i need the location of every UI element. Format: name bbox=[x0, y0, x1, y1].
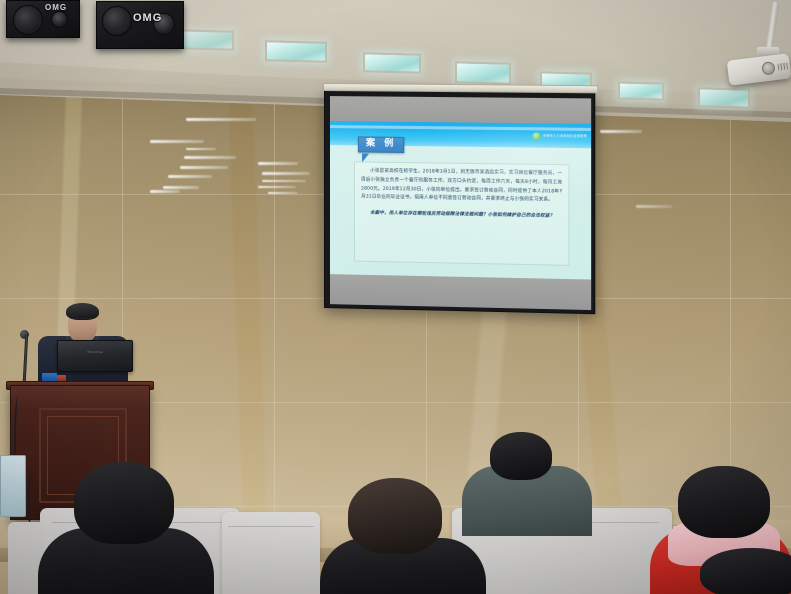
projection-screen: 无锡市人力资源和社会保障局 案 例 小张是某高校在校学生，2018年3月1日，到… bbox=[324, 89, 595, 314]
screen-roller-housing bbox=[323, 83, 598, 93]
speaker-brand-label: OMG bbox=[45, 3, 67, 12]
wall-light-streak bbox=[180, 166, 228, 169]
desk-item-blue bbox=[42, 373, 57, 381]
wall-light-streak bbox=[150, 190, 180, 193]
wall-light-streak bbox=[184, 156, 236, 159]
slide-question-text: 本案中，用人单位存在哪些违反劳动保障法律法规问题？小张如何维护自己的合法权益？ bbox=[361, 210, 562, 222]
slide-header-highlight bbox=[330, 125, 591, 131]
presentation-slide: 无锡市人力资源和社会保障局 案 例 小张是某高校在校学生，2018年3月1日，到… bbox=[330, 121, 591, 280]
wall-light-streak bbox=[268, 192, 298, 194]
wall-light-streak bbox=[258, 186, 296, 188]
sofa-seam bbox=[228, 526, 314, 527]
speaker-tweeter-icon bbox=[51, 11, 68, 28]
attendee-right-hair bbox=[678, 466, 770, 538]
attendee-mid-left bbox=[320, 478, 486, 594]
attendee-center-hair bbox=[490, 432, 552, 480]
attendee-far-right-hair bbox=[700, 548, 791, 594]
speaker-woofer-icon bbox=[13, 5, 43, 35]
case-callout-badge: 案 例 bbox=[358, 136, 404, 153]
presenter-glasses-icon bbox=[71, 318, 94, 323]
slide-body-text: 小张是某高校在校学生，2018年3月1日，到无锡市某酒店实习，实习岗位餐厅服务员… bbox=[361, 168, 562, 207]
projector-vent bbox=[777, 62, 788, 70]
wall-light-streak bbox=[600, 130, 642, 133]
wall-light-streak bbox=[163, 186, 199, 189]
attendee-front-left-hair bbox=[74, 462, 174, 544]
ceiling-light-5 bbox=[618, 81, 664, 100]
presenter-laptop[interactable]: ThinkPad bbox=[57, 340, 133, 372]
ceiling-light-2 bbox=[363, 52, 421, 73]
projector-lens-icon bbox=[761, 61, 775, 75]
logo-mark-icon bbox=[533, 132, 541, 140]
wall-light-streak bbox=[186, 118, 256, 121]
sofa-center bbox=[222, 512, 320, 594]
ceiling-speaker-left: OMG bbox=[6, 0, 80, 38]
ceiling-light-7 bbox=[176, 29, 234, 50]
laptop-brand-label: ThinkPad bbox=[87, 350, 103, 354]
floor-equipment-box bbox=[0, 455, 26, 517]
wall-light-streak bbox=[258, 162, 298, 165]
case-callout-label: 案 例 bbox=[366, 139, 396, 149]
wall-light-streak bbox=[168, 175, 212, 178]
attendee-far-right bbox=[700, 548, 791, 594]
wall-light-streak bbox=[150, 140, 204, 143]
speaker-woofer-icon bbox=[102, 6, 132, 36]
slide-text-box: 小张是某高校在校学生，2018年3月1日，到无锡市某酒店实习，实习岗位餐厅服务员… bbox=[354, 161, 569, 265]
wall-light-streak bbox=[262, 180, 306, 182]
screen-blank-bottom bbox=[330, 274, 591, 310]
speaker-brand-label: OMG bbox=[133, 12, 162, 24]
attendee-front-left bbox=[38, 462, 214, 594]
attendee-mid-left-hair bbox=[348, 478, 442, 554]
floor-cable bbox=[28, 470, 36, 530]
wall-light-streak bbox=[262, 172, 310, 175]
wall-light-streak bbox=[186, 148, 216, 150]
ceiling-light-3 bbox=[455, 61, 511, 84]
ceiling-light-1 bbox=[265, 40, 327, 63]
logo-text: 无锡市人力资源和社会保障局 bbox=[543, 135, 587, 139]
wall-light-streak bbox=[636, 205, 672, 208]
lecture-hall-photo: OMG OMG 无锡市人力资源和社会保障局 案 例 bbox=[0, 0, 791, 594]
ceiling-light-6 bbox=[698, 87, 750, 108]
ceiling-speaker-right: OMG bbox=[96, 1, 184, 49]
organization-logo: 无锡市人力资源和社会保障局 bbox=[533, 132, 587, 141]
